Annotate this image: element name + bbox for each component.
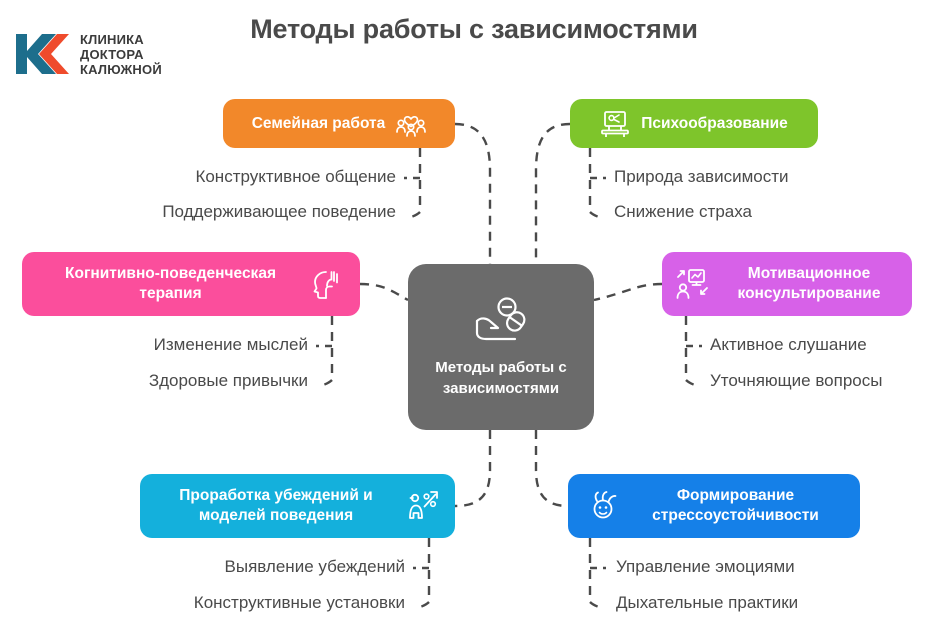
hub-label: Методы работы с зависимостями — [426, 357, 576, 399]
wire-beliefs-spine — [417, 538, 429, 608]
wire-hub-to-psycho — [536, 124, 570, 264]
sub-item-family-2[interactable]: Поддерживающее поведение — [40, 202, 396, 222]
branch-card-stress[interactable]: Формирование стрессоустойчивости — [568, 474, 860, 538]
branch-card-family[interactable]: Семейная работа — [223, 99, 455, 148]
sub-item-psycho-1[interactable]: Природа зависимости — [614, 167, 934, 187]
wire-motiv-spine — [686, 316, 698, 386]
sub-item-family-1[interactable]: Конструктивное общение — [60, 167, 396, 187]
family-heart-icon — [396, 110, 426, 137]
infographic-canvas: КЛИНИКА ДОКТОРА КАЛЮЖНОЙ Методы работы с… — [0, 0, 948, 634]
wire-stress-spine — [590, 538, 602, 608]
wire-hub-to-motiv — [594, 284, 662, 300]
branch-label-stress: Формирование стрессоустойчивости — [630, 486, 842, 526]
branch-label-beliefs: Проработка убеждений и моделей поведения — [156, 486, 396, 526]
sub-item-stress-2[interactable]: Дыхательные практики — [616, 593, 936, 613]
logo-line-2: ДОКТОРА — [80, 47, 162, 62]
wire-hub-to-cbt — [360, 284, 408, 300]
branch-card-motivational[interactable]: Мотивационное консультирование — [662, 252, 912, 316]
sub-item-beliefs-1[interactable]: Выявление убеждений — [100, 557, 405, 577]
lecture-board-icon — [600, 109, 630, 139]
wire-cbt-spine — [320, 316, 332, 386]
sub-item-motiv-1[interactable]: Активное слушание — [710, 335, 946, 355]
wire-hub-to-stress — [536, 430, 568, 506]
logo-line-3: КАЛЮЖНОЙ — [80, 62, 162, 77]
sub-item-psycho-2[interactable]: Снижение страха — [614, 202, 934, 222]
branch-card-psychoeducation[interactable]: Психообразование — [570, 99, 818, 148]
branch-card-cbt[interactable]: Когнитивно-поведенческая терапия — [22, 252, 360, 316]
branch-card-beliefs[interactable]: Проработка убеждений и моделей поведения — [140, 474, 455, 538]
page-title: Методы работы с зависимостями — [0, 14, 948, 45]
head-hand-icon — [310, 268, 340, 300]
sub-item-cbt-2[interactable]: Здоровые привычки — [20, 371, 308, 391]
sub-item-beliefs-2[interactable]: Конструктивные установки — [100, 593, 405, 613]
pill-in-hand-icon — [471, 295, 531, 347]
person-chart-icon — [676, 268, 709, 300]
branch-label-psychoeducation: Психообразование — [641, 114, 788, 134]
sub-item-stress-1[interactable]: Управление эмоциями — [616, 557, 936, 577]
branch-label-cbt: Когнитивно-поведенческая терапия — [43, 264, 299, 304]
branch-label-motivational: Мотивационное консультирование — [720, 264, 898, 304]
wire-family-spine — [408, 148, 420, 218]
sub-item-motiv-2[interactable]: Уточняющие вопросы — [710, 371, 946, 391]
stress-face-icon — [587, 490, 619, 522]
person-percent-icon — [407, 490, 439, 522]
wire-hub-to-family — [455, 124, 490, 264]
hub-node[interactable]: Методы работы с зависимостями — [408, 264, 594, 430]
branch-label-family: Семейная работа — [252, 114, 386, 134]
wire-psycho-spine — [590, 148, 602, 218]
wire-hub-to-beliefs — [455, 430, 490, 506]
sub-item-cbt-1[interactable]: Изменение мыслей — [20, 335, 308, 355]
